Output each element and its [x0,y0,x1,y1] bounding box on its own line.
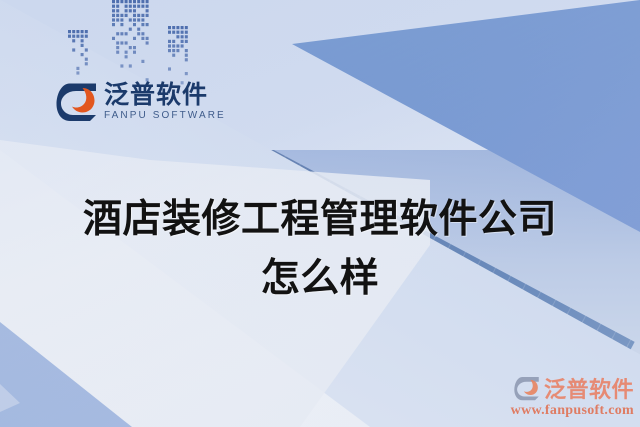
page-title-line-2: 怎么样 [0,249,640,308]
brand-logo: 泛普软件 FANPU SOFTWARE [56,82,226,122]
page-title: 酒店装修工程管理软件公司 怎么样 [0,190,640,309]
watermark: 泛普软件 www.fanpusoft.com [511,372,634,419]
watermark-brand-row: 泛普软件 [511,372,634,404]
brand-logo-text: 泛普软件 FANPU SOFTWARE [104,82,226,122]
watermark-name-cn: 泛普软件 [544,372,634,404]
brand-name-cn: 泛普软件 [104,82,226,108]
watermark-url: www.fanpusoft.com [511,403,634,419]
promo-banner: 泛普软件 FANPU SOFTWARE 酒店装修工程管理软件公司 怎么样 泛普软… [0,0,640,427]
pixel-skyline-icon [68,0,198,92]
page-title-line-1: 酒店装修工程管理软件公司 [0,190,640,249]
fanpu-swoosh-icon [56,82,98,122]
brand-name-en: FANPU SOFTWARE [104,110,226,122]
watermark-fanpu-swoosh-icon [514,376,540,401]
